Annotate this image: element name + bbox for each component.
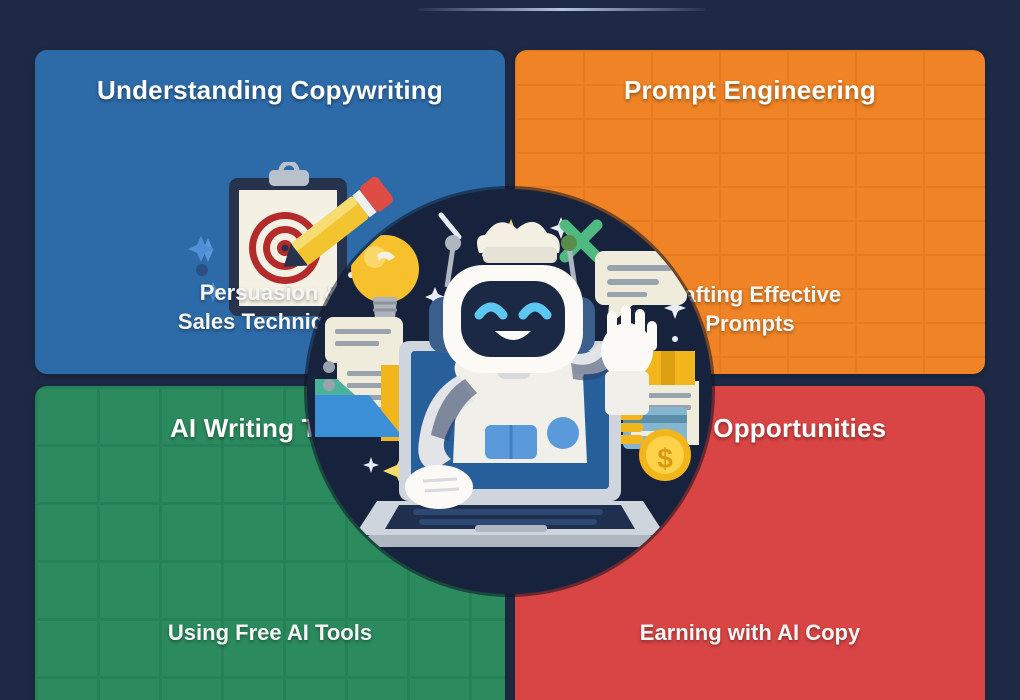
lightbulb-icon bbox=[351, 235, 419, 322]
robot-hand bbox=[405, 465, 473, 509]
quadrant-title: Understanding Copywriting bbox=[35, 75, 505, 106]
quadrant-subtitle-line1: Earning with AI Copy bbox=[515, 618, 985, 647]
coin-icon: $ bbox=[639, 429, 691, 481]
quadrant-subtitle: Earning with AI Copy bbox=[515, 618, 985, 647]
page-title: AI COPYWRITING FUNDAMENTALS bbox=[0, 0, 1020, 4]
robot-waving-hand bbox=[601, 305, 657, 415]
svg-text:$: $ bbox=[657, 443, 673, 474]
center-illustration-circle: $ bbox=[307, 189, 712, 594]
infographic-canvas: AI COPYWRITING FUNDAMENTALS Understandin… bbox=[0, 0, 1020, 700]
page-title-block: AI COPYWRITING FUNDAMENTALS bbox=[0, 0, 1020, 14]
quadrant-subtitle: Using Free AI Tools bbox=[35, 618, 505, 647]
quadrant-subtitle-line1: Using Free AI Tools bbox=[35, 618, 505, 647]
title-divider bbox=[418, 8, 706, 11]
quadrant-title: Prompt Engineering bbox=[515, 75, 985, 106]
robot-laptop-illustration: $ bbox=[307, 189, 712, 594]
